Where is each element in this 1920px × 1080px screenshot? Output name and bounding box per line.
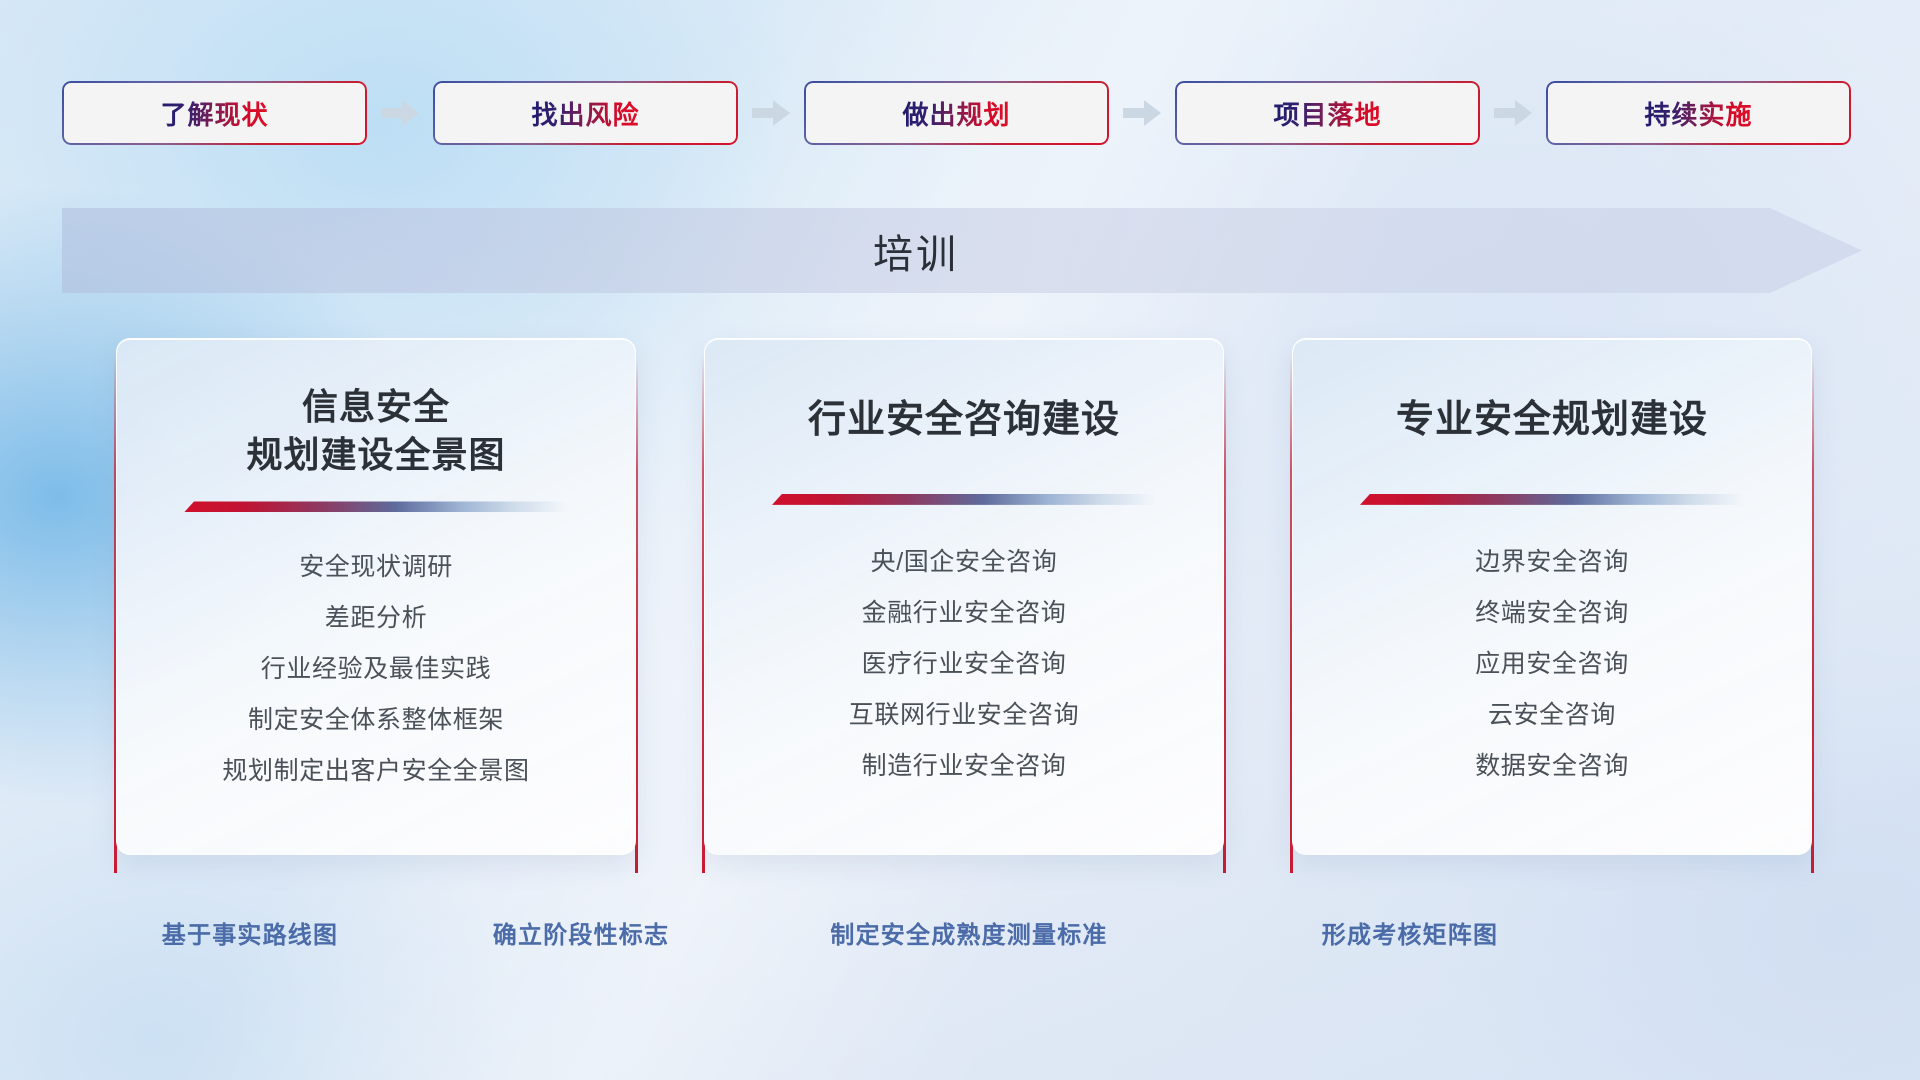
list-item: 终端安全咨询 xyxy=(1475,588,1629,639)
process-step-row: 了解现状 找出风险 做出规划 项目落地 持续实施 xyxy=(62,80,1852,146)
caption-3: 制定安全成熟度测量标准 xyxy=(830,915,1107,950)
caption-1: 基于事实路线图 xyxy=(162,915,338,950)
list-item: 行业经验及最佳实践 xyxy=(261,644,491,695)
step-label: 做出规划 xyxy=(902,95,1010,132)
card-list: 安全现状调研 差距分析 行业经验及最佳实践 制定安全体系整体框架 规划制定出客户… xyxy=(117,542,635,797)
card-divider xyxy=(772,494,1156,505)
list-item: 应用安全咨询 xyxy=(1475,639,1629,690)
list-item: 边界安全咨询 xyxy=(1475,537,1629,588)
card-title: 信息安全 规划建设全景图 xyxy=(246,383,505,479)
list-item: 规划制定出客户安全全景图 xyxy=(222,746,529,797)
step-box-4[interactable]: 项目落地 xyxy=(1175,81,1480,145)
list-item: 制造行业安全咨询 xyxy=(862,741,1067,792)
step-box-3[interactable]: 做出规划 xyxy=(804,81,1109,145)
caption-4: 形成考核矩阵图 xyxy=(1322,915,1498,950)
arrow-right-icon xyxy=(738,98,804,128)
arrow-right-icon xyxy=(1109,98,1175,128)
banner-label: 培训 xyxy=(62,208,1770,293)
card-title: 专业安全规划建设 xyxy=(1396,395,1708,446)
step-label: 了解现状 xyxy=(160,95,268,132)
caption-row: 基于事实路线图 确立阶段性标志 制定安全成熟度测量标准 形成考核矩阵图 xyxy=(0,915,1920,961)
list-item: 安全现状调研 xyxy=(299,542,453,593)
feature-card-row: 信息安全 规划建设全景图 安全现状调研 差距分析 行业经验及最佳实践 制定安全体… xyxy=(114,338,1814,873)
step-box-2[interactable]: 找出风险 xyxy=(433,81,738,145)
list-item: 央/国企安全咨询 xyxy=(871,537,1058,588)
card-divider xyxy=(184,501,568,512)
card-list: 央/国企安全咨询 金融行业安全咨询 医疗行业安全咨询 互联网行业安全咨询 制造行… xyxy=(705,537,1223,792)
list-item: 数据安全咨询 xyxy=(1475,741,1629,792)
list-item: 云安全咨询 xyxy=(1488,690,1616,741)
caption-2: 确立阶段性标志 xyxy=(493,915,669,950)
feature-card-1[interactable]: 信息安全 规划建设全景图 安全现状调研 差距分析 行业经验及最佳实践 制定安全体… xyxy=(114,338,638,873)
arrow-right-icon xyxy=(1480,98,1546,128)
step-box-5[interactable]: 持续实施 xyxy=(1546,81,1851,145)
list-item: 医疗行业安全咨询 xyxy=(862,639,1067,690)
list-item: 互联网行业安全咨询 xyxy=(849,690,1079,741)
step-label: 持续实施 xyxy=(1644,95,1752,132)
step-label: 项目落地 xyxy=(1273,95,1381,132)
training-banner: 培训 xyxy=(62,208,1862,293)
card-divider xyxy=(1360,494,1744,505)
feature-card-2[interactable]: 行业安全咨询建设 央/国企安全咨询 金融行业安全咨询 医疗行业安全咨询 互联网行… xyxy=(702,338,1226,873)
card-list: 边界安全咨询 终端安全咨询 应用安全咨询 云安全咨询 数据安全咨询 xyxy=(1293,537,1811,792)
arrow-right-icon xyxy=(367,98,433,128)
list-item: 差距分析 xyxy=(325,593,427,644)
feature-card-3[interactable]: 专业安全规划建设 边界安全咨询 终端安全咨询 应用安全咨询 云安全咨询 数据安全… xyxy=(1290,338,1814,873)
list-item: 制定安全体系整体框架 xyxy=(248,695,504,746)
card-title: 行业安全咨询建设 xyxy=(808,395,1120,446)
step-label: 找出风险 xyxy=(531,95,639,132)
step-box-1[interactable]: 了解现状 xyxy=(62,81,367,145)
list-item: 金融行业安全咨询 xyxy=(862,588,1067,639)
